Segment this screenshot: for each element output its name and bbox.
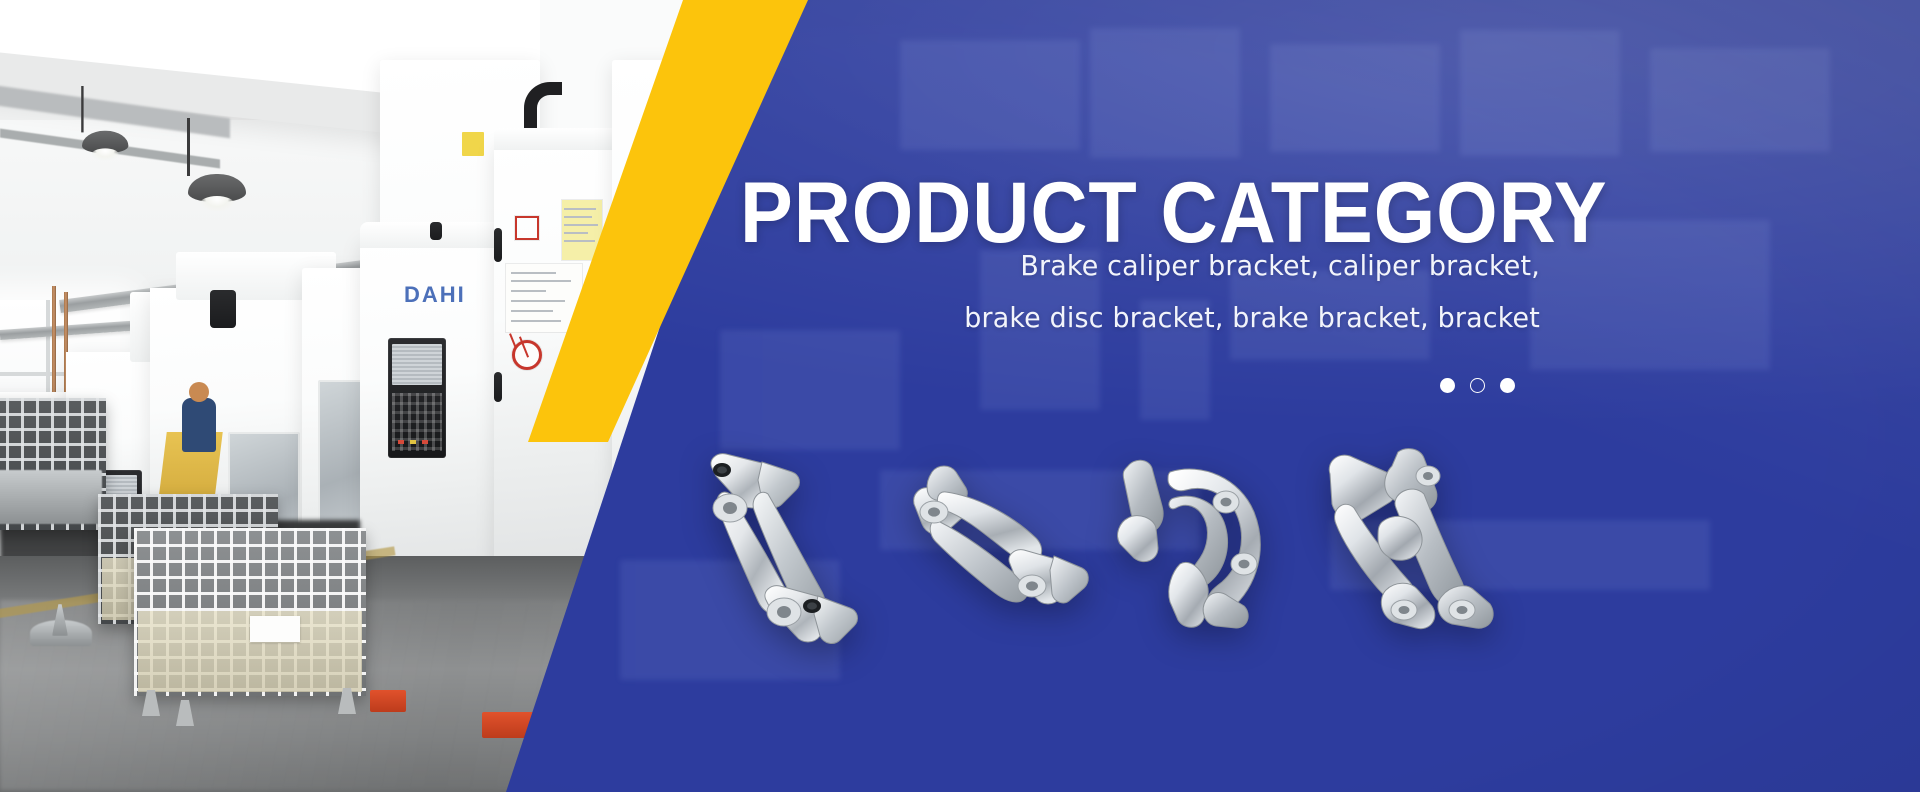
machine-cabinet-top	[494, 128, 626, 150]
machine-dark-detail	[430, 222, 442, 240]
warning-tag	[462, 132, 484, 156]
brake-disc-bracket-3[interactable]	[1110, 454, 1300, 634]
machine-brand-label: DAHI	[404, 282, 466, 308]
drawing-sticker	[506, 264, 582, 332]
subtitle-line-1: Brake caliper bracket, caliper bracket,	[772, 240, 1540, 292]
brake-bracket-4[interactable]	[1320, 446, 1520, 636]
product-images	[680, 440, 1580, 650]
subtitle-text: Brake caliper bracket, caliper bracket, …	[772, 240, 1540, 344]
product-category-banner: DAHI	[0, 0, 1920, 792]
subtitle-line-2: brake disc bracket, brake bracket, brack…	[772, 292, 1540, 344]
machine-dark-detail	[210, 290, 236, 328]
carousel-dot-2[interactable]	[1470, 378, 1485, 393]
wire-mesh-cage-front	[134, 528, 366, 696]
brake-caliper-bracket-2[interactable]	[910, 460, 1100, 620]
cnc-control-panel-dahi[interactable]	[388, 338, 446, 458]
red-text-sticker	[505, 336, 557, 388]
brake-caliper-bracket-1[interactable]	[700, 450, 880, 650]
worker	[182, 398, 216, 452]
carousel-dot-3[interactable]	[1500, 378, 1515, 393]
warning-sticker	[515, 216, 539, 240]
cage-label	[250, 616, 300, 642]
red-tool-case	[370, 690, 406, 712]
cabinet-edge-dark	[494, 372, 502, 402]
carousel-dots[interactable]	[1440, 378, 1515, 393]
cabinet-edge-dark	[494, 228, 502, 262]
carousel-dot-1[interactable]	[1440, 378, 1455, 393]
instruction-sticker	[562, 200, 602, 260]
parts-pile	[0, 470, 102, 524]
